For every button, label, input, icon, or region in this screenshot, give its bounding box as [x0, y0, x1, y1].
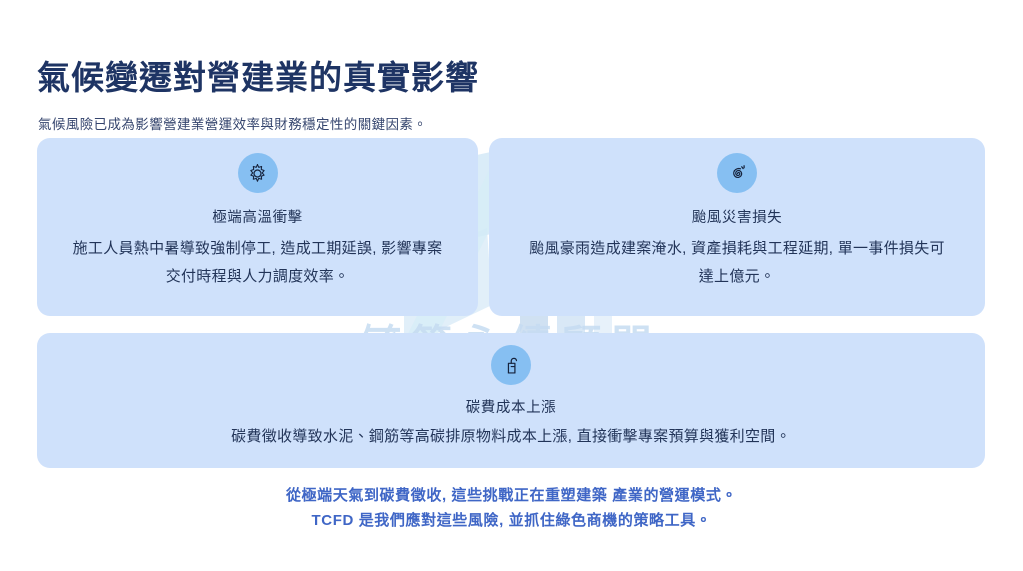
card-title: 極端高溫衝擊 [37, 206, 478, 227]
page-subtitle: 氣候風險已成為影響營建業營運效率與財務穩定性的關鍵因素。 [38, 113, 427, 133]
card-description: 施工人員熱中暑導致強制停工, 造成工期延誤, 影響專案交付時程與人力調度效率。 [72, 235, 444, 291]
factory-icon [491, 345, 531, 385]
footer-line-2: TCFD 是我們應對這些風險, 並抓住綠色商機的策略工具。 [0, 509, 1023, 534]
card-description: 碳費徵收導致水泥、鋼筋等高碳排原物料成本上漲, 直接衝擊專案預算與獲利空間。 [111, 423, 911, 451]
slide-page: 氣候變遷對營建業的真實影響 氣候風險已成為影響營建業營運效率與財務穩定性的關鍵因… [0, 0, 1023, 571]
footer-message: 從極端天氣到碳費徵收, 這些挑戰正在重塑建築 產業的營運模式。 TCFD 是我們… [0, 484, 1023, 534]
card-typhoon-damage: 颱風災害損失 颱風豪雨造成建案淹水, 資產損耗與工程延期, 單一事件損失可達上億… [489, 138, 985, 316]
cyclone-icon [717, 153, 757, 193]
card-description: 颱風豪雨造成建案淹水, 資產損耗與工程延期, 單一事件損失可達上億元。 [522, 235, 952, 291]
card-carbon-cost: 碳費成本上漲 碳費徵收導致水泥、鋼筋等高碳排原物料成本上漲, 直接衝擊專案預算與… [37, 333, 985, 468]
card-title: 颱風災害損失 [489, 206, 985, 227]
page-title: 氣候變遷對營建業的真實影響 [37, 51, 479, 99]
card-extreme-heat: 極端高溫衝擊 施工人員熱中暑導致強制停工, 造成工期延誤, 影響專案交付時程與人… [37, 138, 478, 316]
footer-line-1: 從極端天氣到碳費徵收, 這些挑戰正在重塑建築 產業的營運模式。 [0, 484, 1023, 509]
sun-icon [238, 153, 278, 193]
card-title: 碳費成本上漲 [37, 396, 985, 417]
